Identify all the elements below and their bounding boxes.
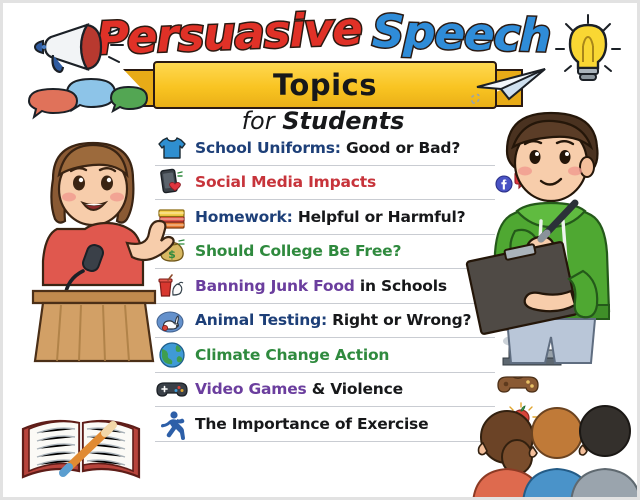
topic-tail: Right or Wrong? [332, 311, 471, 329]
open-book-pencil-icon [15, 407, 147, 485]
topic-row[interactable]: Video Games & Violence [155, 373, 495, 408]
topic-text: School Uniforms: Good or Bad? [195, 139, 460, 157]
title-word-speech: Speech [371, 5, 551, 63]
gamepad-icon [155, 374, 189, 404]
banner-label: Topics [273, 68, 377, 102]
topic-lead: Video Games [195, 380, 307, 398]
topic-tail: & Violence [312, 380, 403, 398]
topic-row[interactable]: $ Should College Be Free? $ [155, 235, 495, 270]
topic-lead: Climate Change Action [195, 346, 389, 364]
runner-icon [155, 409, 189, 439]
topic-lead: School Uniforms: [195, 139, 341, 157]
topic-text: Climate Change Action [195, 346, 389, 364]
topic-row[interactable]: School Uniforms: Good or Bad? [155, 131, 495, 166]
topic-lead: The Importance of Exercise [195, 415, 428, 433]
topic-text: Social Media Impacts [195, 173, 376, 191]
students-audience-illustration [465, 403, 640, 500]
topic-row[interactable]: Banning Junk Food in Schools [155, 269, 495, 304]
gamepad-brown-icon [497, 371, 539, 399]
topic-row[interactable]: Climate Change Action [155, 338, 495, 373]
topic-text: The Importance of Exercise [195, 415, 428, 433]
topics-list: School Uniforms: Good or Bad? Social Med… [155, 131, 495, 442]
topic-tail: Good or Bad? [346, 139, 460, 157]
topic-row[interactable]: The Importance of Exercise [155, 407, 495, 442]
topic-row[interactable]: Animal Testing: Right or Wrong? [155, 304, 495, 339]
topic-row[interactable]: Homework: Helpful or Harmful? [155, 200, 495, 235]
banner-body: Topics [153, 61, 497, 109]
megaphone-icon [29, 21, 137, 83]
topic-tail: in Schools [360, 277, 447, 295]
speech-bubbles-icon [25, 77, 149, 127]
lightbulb-icon [551, 13, 625, 87]
girl-speaker-illustration [11, 121, 177, 361]
topic-text: Video Games & Violence [195, 380, 403, 398]
topic-lead: Should College Be Free? [195, 242, 401, 260]
topic-tail: Helpful or Harmful? [298, 208, 466, 226]
topic-text: Animal Testing: Right or Wrong? [195, 311, 471, 329]
boy-thinker-illustration [455, 99, 640, 371]
topic-lead: Homework: [195, 208, 293, 226]
topic-lead: Social Media Impacts [195, 173, 376, 191]
topic-text: Banning Junk Food in Schools [195, 277, 447, 295]
topic-lead: Animal Testing: [195, 311, 327, 329]
topic-text: Homework: Helpful or Harmful? [195, 208, 465, 226]
poster-canvas: PersuasiveSpeech Topics for Students Sch… [0, 0, 640, 500]
topic-lead: Banning Junk Food [195, 277, 355, 295]
topic-row[interactable]: Social Media Impacts [155, 166, 495, 201]
topic-text: Should College Be Free? [195, 242, 401, 260]
